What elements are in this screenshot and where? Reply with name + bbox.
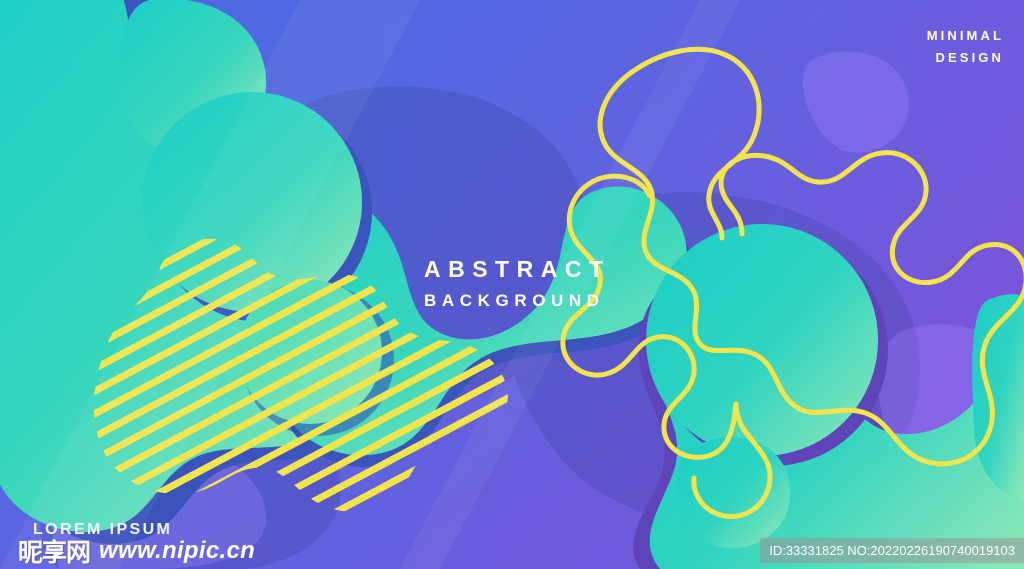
right-blob-drip: [676, 437, 791, 548]
background-artwork: [0, 0, 1024, 569]
image-id-badge: ID:33331825 NO:20220226190740019103: [760, 538, 1024, 563]
nipic-logo-watermark: 昵享网: [18, 533, 90, 569]
nipic-url-watermark: www.nipic.cn: [99, 537, 255, 565]
abstract-background-poster: ABSTRACT BACKGROUND MINIMAL DESIGN LOREM…: [0, 0, 1024, 569]
